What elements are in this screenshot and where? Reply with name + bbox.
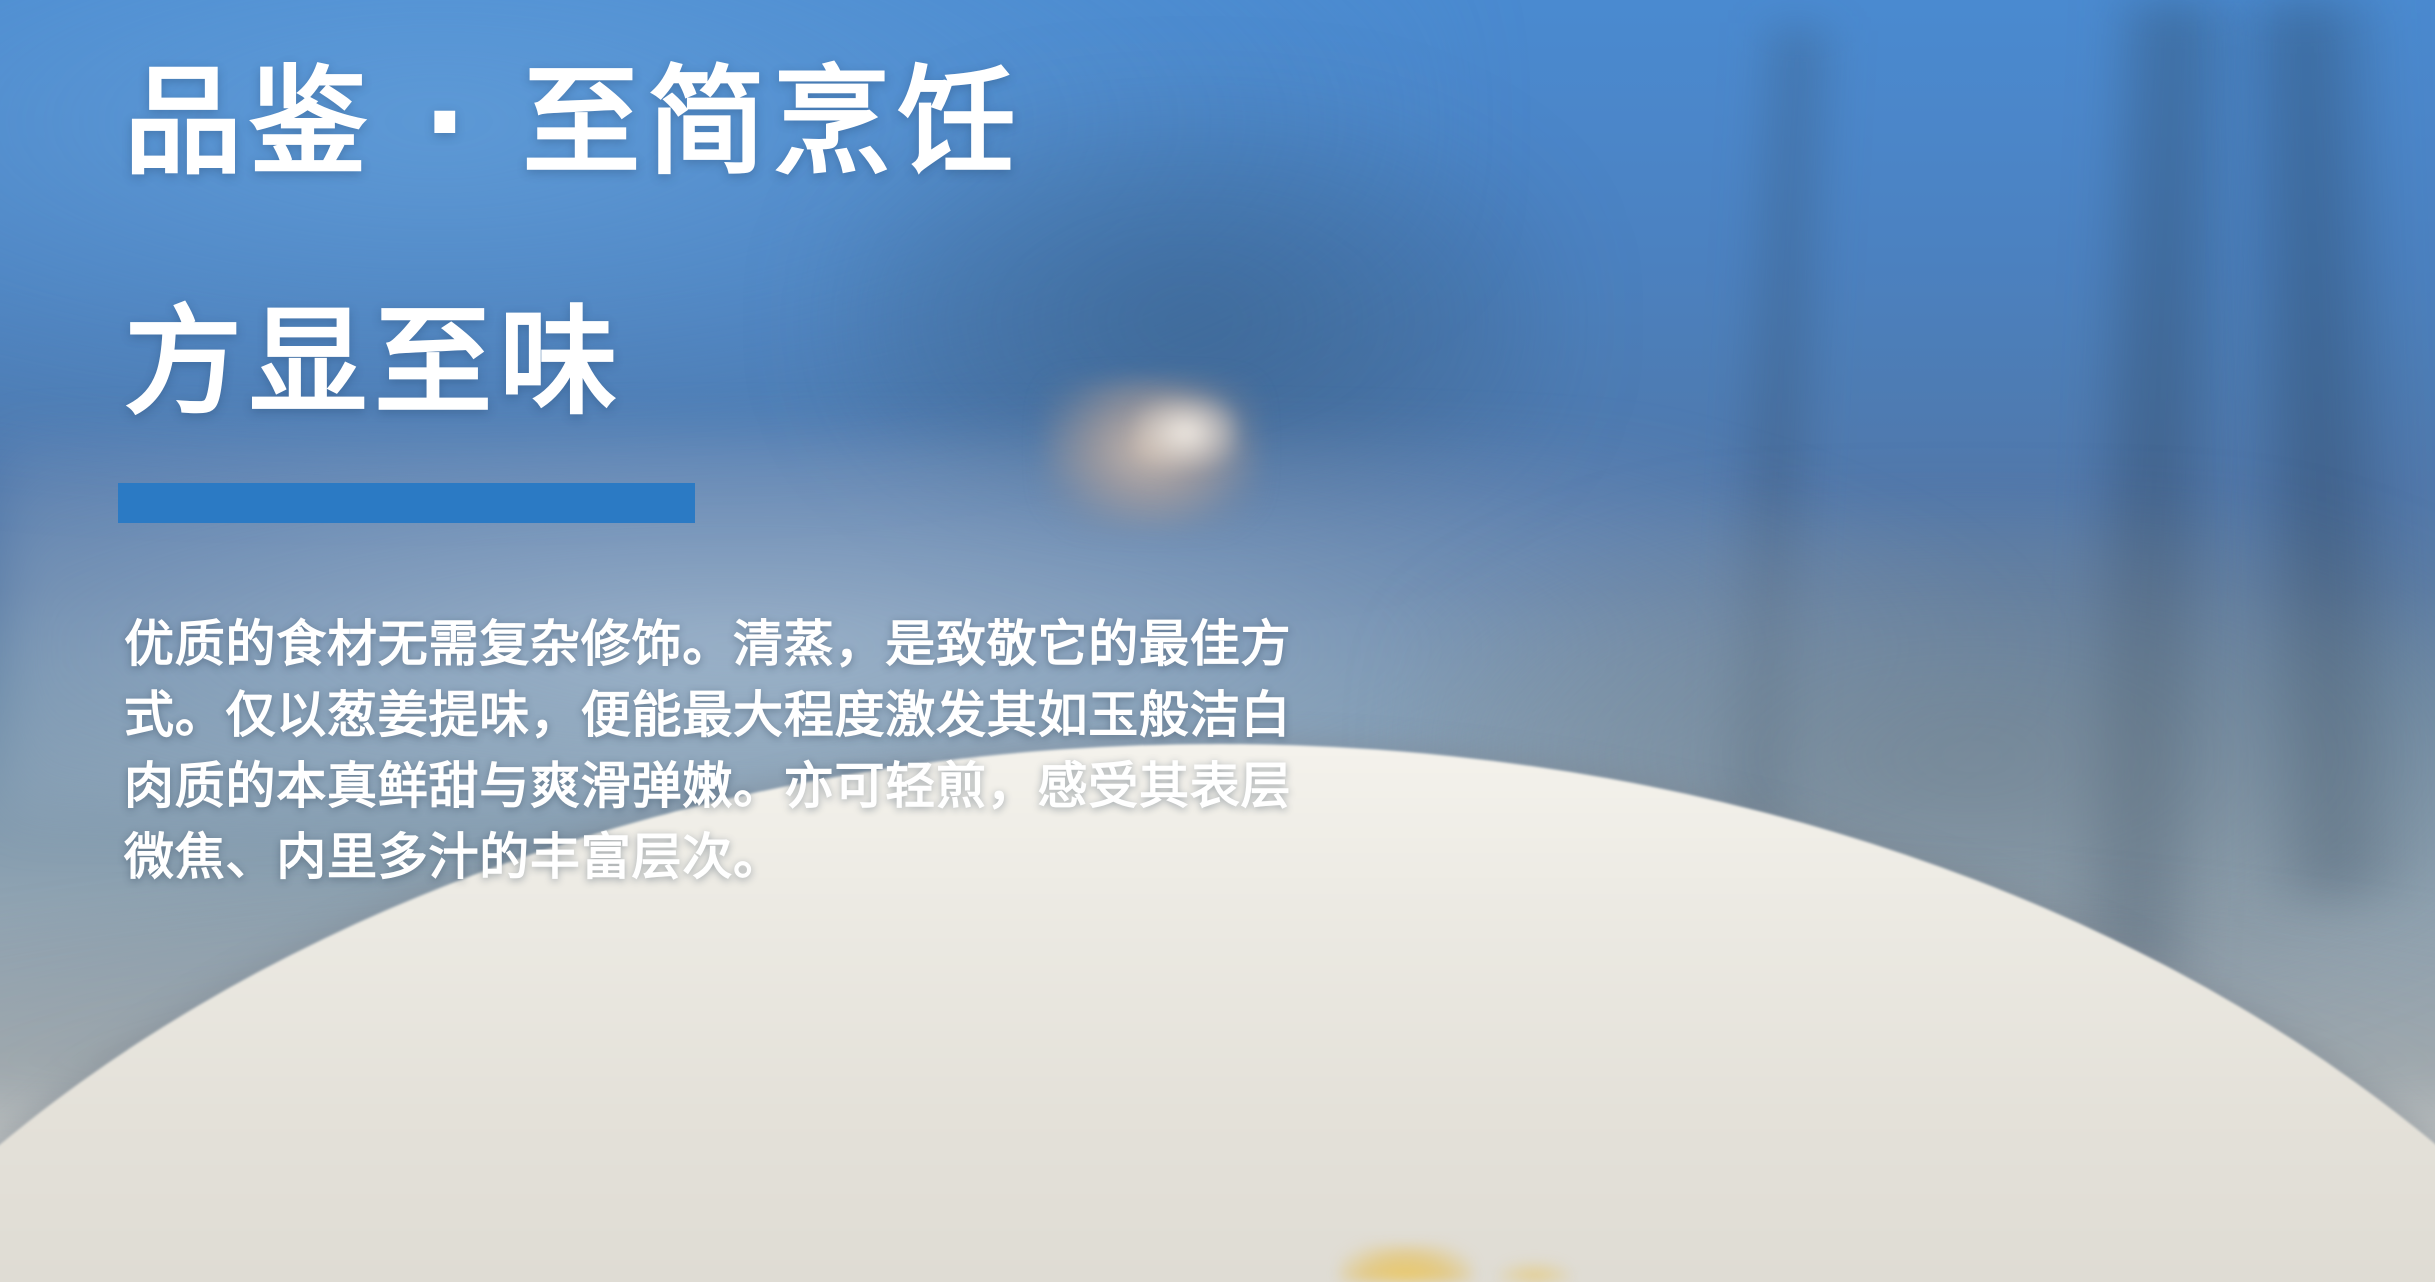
body-paragraph: 优质的食材无需复杂修饰。清蒸，是致敬它的最佳方式。仅以葱姜提味，便能最大程度激发… [124, 609, 1314, 893]
poster-content: 品鉴 · 至简烹饪 方显至味 优质的食材无需复杂修饰。清蒸，是致敬它的最佳方式。… [0, 0, 2435, 1282]
body-copy: 优质的食材无需复杂修饰。清蒸，是致敬它的最佳方式。仅以葱姜提味，便能最大程度激发… [124, 609, 1314, 893]
food-poster: 品鉴 · 至简烹饪 方显至味 优质的食材无需复杂修饰。清蒸，是致敬它的最佳方式。… [0, 0, 2435, 1282]
headline-underline-bar [118, 483, 695, 523]
headline-secondary-group: 方显至味 [124, 204, 624, 524]
headline-secondary: 方显至味 [124, 302, 624, 426]
headline-primary: 品鉴 · 至简烹饪 [124, 62, 2435, 182]
